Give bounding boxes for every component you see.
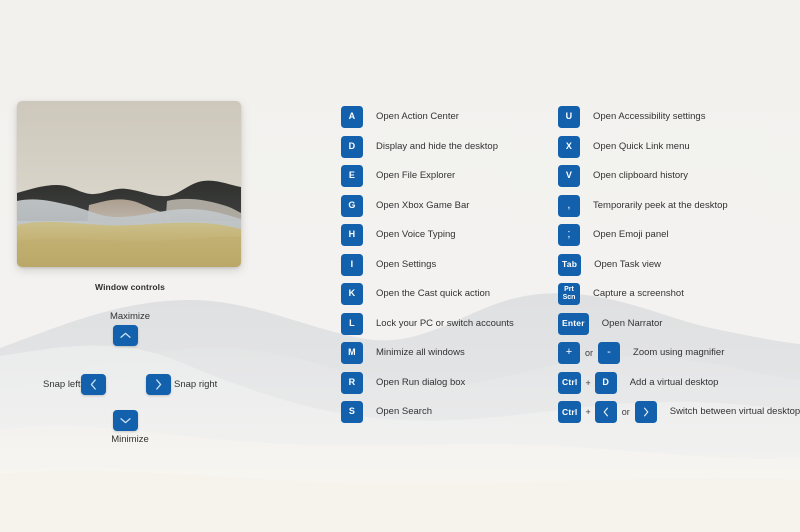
key-chevron-left-icon[interactable] — [595, 401, 617, 423]
key-line: U — [566, 112, 573, 121]
shortcut-row: GOpen Xbox Game Bar — [341, 195, 514, 217]
shortcut-row: ;Open Emoji panel — [558, 224, 800, 246]
snap-left-label: Snap left — [43, 379, 81, 390]
key-sym[interactable]: + — [558, 342, 580, 364]
key-s[interactable]: S — [341, 401, 363, 423]
key-line: V — [566, 171, 572, 180]
key-line: I — [351, 260, 354, 269]
shortcut-description: Open clipboard history — [593, 165, 688, 187]
key-ctrl[interactable]: Ctrl — [558, 401, 581, 423]
shortcut-row: UOpen Accessibility settings — [558, 106, 800, 128]
shortcut-list-right: UOpen Accessibility settingsXOpen Quick … — [558, 106, 800, 431]
shortcut-description: Open Task view — [594, 254, 661, 276]
chevron-right-icon — [643, 407, 649, 417]
key-u[interactable]: U — [558, 106, 580, 128]
chevron-up-icon — [120, 332, 131, 339]
shortcut-description: Add a virtual desktop — [630, 372, 719, 394]
key-prtscn[interactable]: PrtScn — [558, 283, 580, 305]
shortcut-description: Open Xbox Game Bar — [376, 195, 469, 217]
key-line: , — [567, 200, 570, 211]
key-d[interactable]: D — [595, 372, 617, 394]
key-line: Enter — [562, 319, 585, 328]
shortcut-row: DDisplay and hide the desktop — [341, 136, 514, 158]
key-line: ; — [567, 229, 570, 240]
key-m[interactable]: M — [341, 342, 363, 364]
key-i[interactable]: I — [341, 254, 363, 276]
shortcut-description: Temporarily peek at the desktop — [593, 195, 728, 217]
shortcut-row: KOpen the Cast quick action — [341, 283, 514, 305]
key-line: Scn — [563, 294, 576, 302]
key-combo-plus: + — [581, 401, 594, 423]
shortcut-description: Switch between virtual desktops — [670, 401, 800, 423]
shortcut-description: Open Action Center — [376, 106, 459, 128]
key-line: Tab — [562, 260, 577, 269]
shortcut-row: ROpen Run dialog box — [341, 372, 514, 394]
shortcut-description: Minimize all windows — [376, 342, 465, 364]
shortcut-row: VOpen clipboard history — [558, 165, 800, 187]
shortcut-row: PrtScnCapture a screenshot — [558, 283, 800, 305]
shortcut-row: TabOpen Task view — [558, 254, 800, 276]
key-line: D — [602, 378, 609, 387]
key-line: X — [566, 142, 572, 151]
key-enter[interactable]: Enter — [558, 313, 589, 335]
key-tab[interactable]: Tab — [558, 254, 581, 276]
shortcut-row: +or-Zoom using magnifier — [558, 342, 800, 364]
key-line: A — [349, 112, 356, 121]
chevron-left-icon — [603, 407, 609, 417]
shortcut-description: Open File Explorer — [376, 165, 455, 187]
shortcut-row: AOpen Action Center — [341, 106, 514, 128]
key-chevron-right-icon[interactable] — [635, 401, 657, 423]
key-line: L — [349, 319, 355, 328]
snap-left-button[interactable] — [81, 374, 106, 395]
key-combo-or: or — [617, 401, 635, 423]
key-line: R — [349, 378, 356, 387]
shortcut-row: EnterOpen Narrator — [558, 313, 800, 335]
key-line: S — [349, 407, 355, 416]
key-e[interactable]: E — [341, 165, 363, 187]
key-line: Ctrl — [562, 408, 577, 417]
chevron-left-icon — [90, 379, 97, 390]
key-d[interactable]: D — [341, 136, 363, 158]
key-combo-plus: + — [581, 372, 594, 394]
key-a[interactable]: A — [341, 106, 363, 128]
shortcut-description: Open Search — [376, 401, 432, 423]
shortcut-description: Open Settings — [376, 254, 436, 276]
minimize-label: Minimize — [0, 434, 260, 445]
key-line: E — [349, 171, 355, 180]
shortcut-list-left: AOpen Action CenterDDisplay and hide the… — [341, 106, 514, 431]
shortcut-row: HOpen Voice Typing — [341, 224, 514, 246]
shortcut-row: SOpen Search — [341, 401, 514, 423]
shortcut-row: XOpen Quick Link menu — [558, 136, 800, 158]
key-line: M — [348, 348, 356, 357]
desktop-wallpaper-preview — [17, 101, 241, 267]
shortcut-row: Ctrl+DAdd a virtual desktop — [558, 372, 800, 394]
shortcut-row: Ctrl+orSwitch between virtual desktops — [558, 401, 800, 423]
snap-right-label: Snap right — [174, 379, 217, 390]
key-line: Prt — [564, 286, 574, 294]
shortcut-description: Open Accessibility settings — [593, 106, 705, 128]
shortcut-row: MMinimize all windows — [341, 342, 514, 364]
shortcut-row: IOpen Settings — [341, 254, 514, 276]
key-v[interactable]: V — [558, 165, 580, 187]
key-l[interactable]: L — [341, 313, 363, 335]
key-k[interactable]: K — [341, 283, 363, 305]
window-controls-section: Window controls Maximize Minimize Snap l… — [0, 282, 260, 442]
shortcut-description: Open Run dialog box — [376, 372, 465, 394]
chevron-down-icon — [120, 417, 131, 424]
key-line: + — [566, 347, 573, 358]
key-line: Ctrl — [562, 378, 577, 387]
chevron-right-icon — [155, 379, 162, 390]
shortcut-description: Capture a screenshot — [593, 283, 684, 305]
key-line: D — [349, 142, 356, 151]
shortcut-description: Open Quick Link menu — [593, 136, 690, 158]
shortcut-row: EOpen File Explorer — [341, 165, 514, 187]
shortcut-row: LLock your PC or switch accounts — [341, 313, 514, 335]
shortcut-description: Open Narrator — [602, 313, 663, 335]
shortcut-row: ,Temporarily peek at the desktop — [558, 195, 800, 217]
key-sym[interactable]: - — [598, 342, 620, 364]
shortcut-description: Lock your PC or switch accounts — [376, 313, 514, 335]
key-line: H — [349, 230, 356, 239]
key-ctrl[interactable]: Ctrl — [558, 372, 581, 394]
key-line: K — [349, 289, 356, 298]
key-sym[interactable]: , — [558, 195, 580, 217]
window-controls-title: Window controls — [0, 282, 260, 292]
key-sym[interactable]: ; — [558, 224, 580, 246]
key-h[interactable]: H — [341, 224, 363, 246]
shortcut-description: Zoom using magnifier — [633, 342, 724, 364]
key-combo-or: or — [580, 342, 598, 364]
key-line: - — [607, 347, 611, 358]
shortcut-description: Open Voice Typing — [376, 224, 456, 246]
maximize-label: Maximize — [0, 311, 260, 322]
key-r[interactable]: R — [341, 372, 363, 394]
shortcut-description: Open Emoji panel — [593, 224, 669, 246]
key-g[interactable]: G — [341, 195, 363, 217]
key-x[interactable]: X — [558, 136, 580, 158]
shortcut-description: Open the Cast quick action — [376, 283, 490, 305]
key-line: G — [348, 201, 355, 210]
minimize-button[interactable] — [113, 410, 138, 431]
snap-right-button[interactable] — [146, 374, 171, 395]
maximize-button[interactable] — [113, 325, 138, 346]
shortcut-description: Display and hide the desktop — [376, 136, 498, 158]
